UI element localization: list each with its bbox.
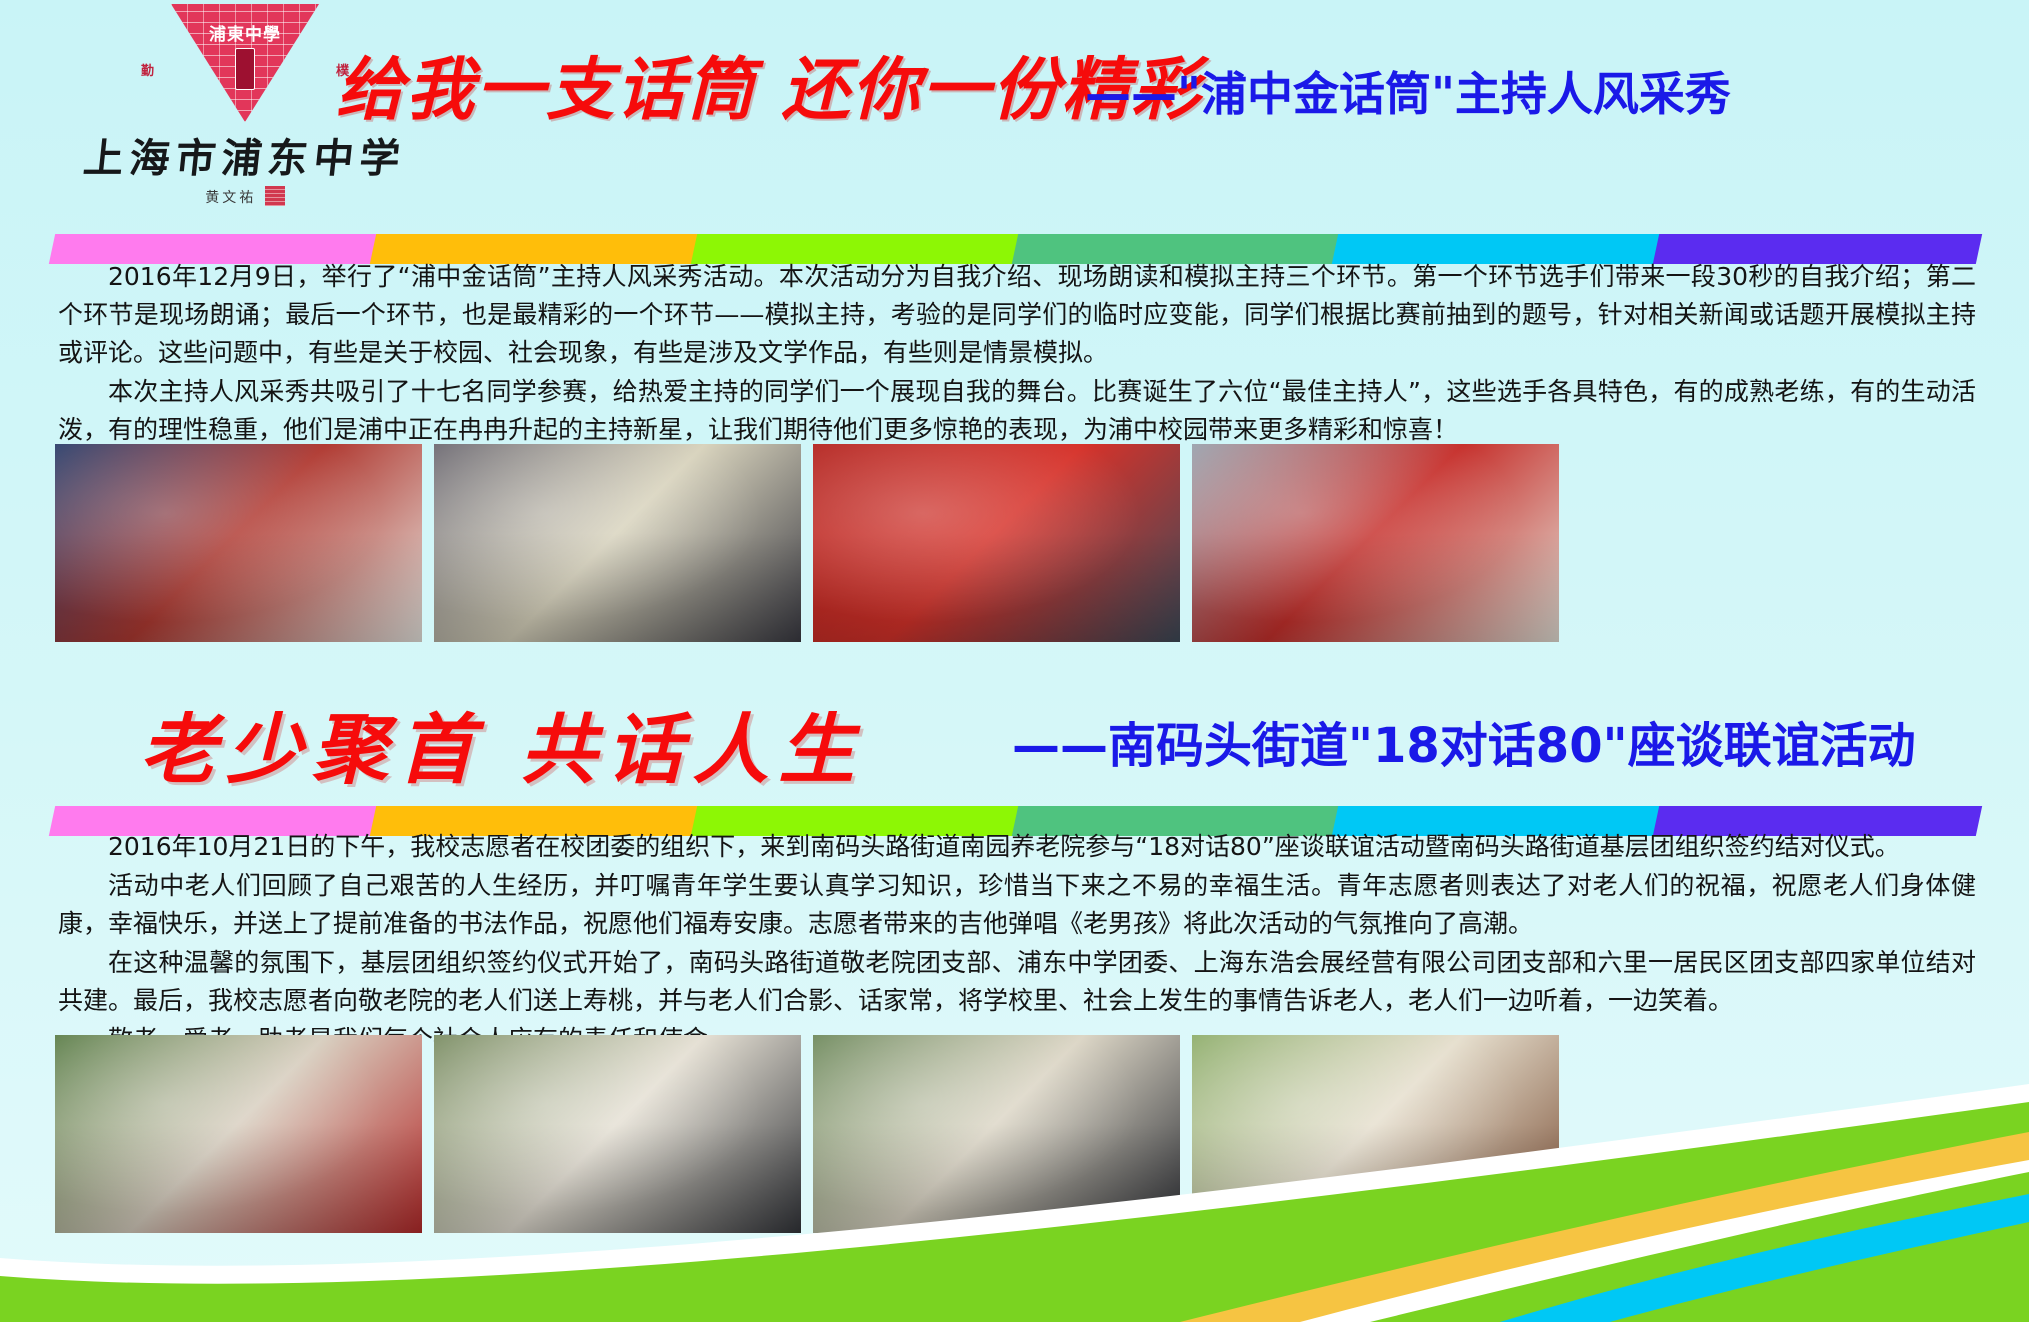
- photo-projector-topic-selection-screen: 请选择题号: [434, 444, 801, 642]
- photo-shading: [1192, 1035, 1559, 1233]
- crest-center-emblem: [235, 48, 255, 90]
- photo-calligraphy-gift-presentation: "18对话80" 座谈联谊活动 暨南码头路街道基层团组织签约结对仪式: [55, 1035, 422, 1233]
- seal-stamp-icon: [265, 186, 285, 206]
- section-2-title: 老少聚首 共话人生: [140, 688, 864, 798]
- photo-student-speaking-with-flags: [55, 444, 422, 642]
- section-1-paragraph-2: 本次主持人风采秀共吸引了十七名同学参赛，给热爱主持的同学们一个展现自我的舞台。比…: [58, 373, 1976, 449]
- section-1-title: 给我一支话筒 还你一份精彩: [336, 44, 1096, 136]
- photo-shading: [813, 1035, 1180, 1233]
- crest-left-character: 勤: [141, 60, 154, 79]
- section-1-photo-row: 请选择题号: [55, 444, 1559, 642]
- section-2-body: 2016年10月21日的下午，我校志愿者在校团委的组织下，来到南码头路街道南园养…: [58, 828, 1976, 1060]
- poster-header: 浦東中學 勤 樸 上海市浦东中学 黄文祐 给我一支话筒 还你一份精彩 ——"浦中…: [0, 0, 2029, 196]
- swoosh-cyan: [1500, 1194, 2029, 1322]
- poster-root: 浦東中學 勤 樸 上海市浦东中学 黄文祐 给我一支话筒 还你一份精彩 ——"浦中…: [0, 0, 2029, 1322]
- section-1-paragraph-1: 2016年12月9日，举行了“浦中金话筒”主持人风采秀活动。本次活动分为自我介绍…: [58, 258, 1976, 372]
- section-1-body: 2016年12月9日，举行了“浦中金话筒”主持人风采秀活动。本次活动分为自我介绍…: [58, 258, 1976, 450]
- signature-text: 黄文祐: [205, 190, 256, 206]
- section-1-subtitle: ——"浦中金话筒"主持人风采秀: [1085, 66, 1731, 122]
- signature-row: 黄文祐: [80, 186, 410, 214]
- photo-shading: [813, 444, 1180, 642]
- section-2-paragraph-2: 活动中老人们回顾了自己艰苦的人生经历，并叮嘱青年学生要认真学习知识，珍惜当下来之…: [58, 867, 1976, 943]
- photo-girl-host-with-microphone: [813, 444, 1180, 642]
- photo-group-of-students-in-meeting-room: [1192, 444, 1559, 642]
- section-2-photo-row: "18对话80" 座谈联谊活动 暨南码头路街道基层团组织签约结对仪式"18对话8…: [55, 1035, 1559, 1233]
- section-2-subtitle: ——南码头街道"18对话80"座谈联谊活动: [1012, 706, 1916, 776]
- crest-top-text: 浦東中學: [171, 20, 319, 45]
- photo-shading: [434, 1035, 801, 1233]
- photo-signing-ceremony-at-table: "18对话80" 座谈联谊活动 暨南码头路街道基层团组织签约结对仪式: [813, 1035, 1180, 1233]
- photo-group-seated-students-and-elders: "18对话80" 座谈联谊活动 暨南码头路街道基层团组织签约结对仪式: [434, 1035, 801, 1233]
- section-2-paragraph-3: 在这种温馨的氛围下，基层团组织签约仪式开始了，南码头路街道敬老院团支部、浦东中学…: [58, 944, 1976, 1020]
- photo-shading: [55, 1035, 422, 1233]
- school-crest-icon: 浦東中學 勤 樸: [171, 4, 319, 122]
- photo-shading: [434, 444, 801, 642]
- photo-shading: [55, 444, 422, 642]
- section-2-paragraph-1: 2016年10月21日的下午，我校志愿者在校团委的组织下，来到南码头路街道南园养…: [58, 828, 1976, 866]
- photo-volunteer-serving-elder-in-office: [1192, 1035, 1559, 1233]
- photo-shading: [1192, 444, 1559, 642]
